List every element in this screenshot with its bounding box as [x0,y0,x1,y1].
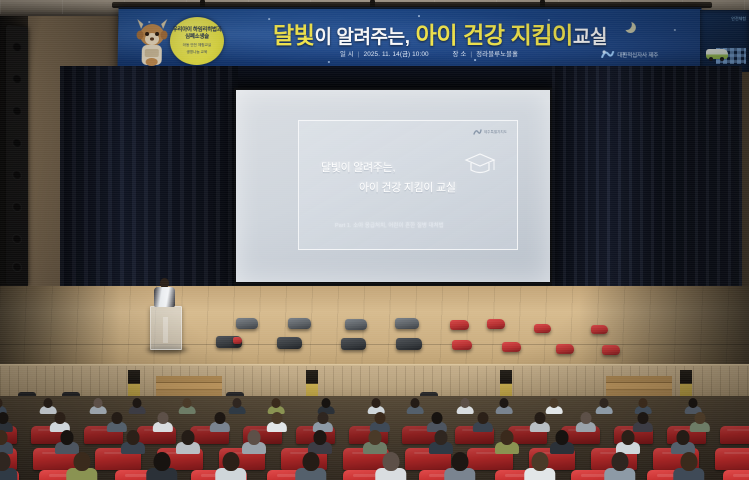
audience-member [426,430,456,454]
cpr-manikin [396,338,422,350]
cpr-kit [502,342,521,352]
audience-member [687,412,712,432]
slide-logo: 제주특별자치도 [473,128,507,136]
audience-head [247,430,260,445]
organization-logo-icon [473,128,482,136]
audience-head [157,412,168,424]
cpr-manikin [341,338,366,350]
cpr-manikin [288,318,311,329]
sponsor-logo: 대한적십자사 제주 [601,49,658,60]
line-array-speaker [6,25,28,287]
slide-logo-text: 제주특별자치도 [484,130,507,135]
audience-member [440,452,479,480]
deer-mascot-icon [130,15,175,69]
audience-member [310,412,335,432]
audience-head [411,398,420,408]
cpr-kit [602,345,620,355]
audience-head [126,430,139,445]
banner-date-value: 2025. 11. 14(금) 10:00 [364,51,429,58]
audience-head [233,398,242,408]
audience-head [317,412,328,424]
banner-title-part-2: 이 알려주는, [314,27,409,48]
banner-title: 달빛이 알려주는, 아이 건강 지킴이교실 [240,16,640,50]
audience-head [368,430,381,445]
audience-head [451,452,468,471]
audience-member [547,430,577,454]
audience-member [62,452,101,480]
audience-head [54,412,65,424]
audience-head [477,412,488,424]
badge-circle: 우리아이 하임리히법과 심폐소생술 아동 안전 체험교실 생명나눔 교육 [170,17,225,65]
event-banner: 우리아이 하임리히법과 심폐소생술 아동 안전 체험교실 생명나눔 교육 달빛이… [117,7,702,71]
audience-head [611,452,628,471]
cpr-kit [591,325,608,334]
presenter-body [154,287,175,307]
audience-member [630,412,655,432]
audience-member [424,412,449,432]
acrylic-podium [150,306,182,350]
audience-member [573,412,598,432]
banner-place-value: 정라블루노블홀 [476,51,518,58]
audience-member [527,412,552,432]
audience-head [94,398,103,408]
audience-head [302,452,319,471]
auditorium-photo: 우리아이 하임리히법과 심폐소생술 아동 안전 체험교실 생명나눔 교육 달빛이… [0,0,749,480]
sponsor-logo-text: 대한적십자사 제주 [617,51,658,59]
cpr-kit [556,344,574,354]
audience-member [173,430,203,454]
audience-head [680,452,697,471]
badge-line-3: 아동 안전 체험교실 [183,43,212,48]
banner-info-line: 일 시|2025. 11. 14(금) 10:00 장 소|정라블루노블홀 [240,49,640,58]
audience-seat [720,426,749,444]
stage-shadow-left [0,286,120,372]
slide-title-line-2: 아이 건강 지킴이 교실 [359,179,456,195]
cpr-manikin [277,337,302,349]
slide-title-line-1: 달빛이 알려주는, [321,159,395,175]
banner-title-part-4: 교실 [573,27,607,48]
audience-head [322,398,331,408]
audience-member [494,398,515,414]
projection-screen: 제주특별자치도 달빛이 알려주는, 아이 건강 지킴이 교실 Part 1. 소… [236,90,550,282]
audience-seating [0,396,749,480]
audience-member [613,430,643,454]
badge-line-4: 생명나눔 교육 [186,50,207,55]
audience-member [239,430,269,454]
audience-head [431,412,442,424]
audience-head [689,398,698,408]
audience-head [372,398,381,408]
audience-member [492,430,522,454]
audience-member [520,452,559,480]
shuttle-bus-icon [706,49,728,59]
audience-head [382,452,399,471]
cpr-kit [534,324,551,333]
audience-member [118,430,148,454]
audience-head [531,452,548,471]
side-panel-caption: 안전체험 [731,16,746,22]
audience-member [669,452,708,480]
audience-head [639,398,648,408]
audience-member [150,412,175,432]
banner-date-label: 일 시 [340,51,354,58]
audience-head [272,398,281,408]
audience-head [222,452,239,471]
audience-member [600,452,639,480]
audience-member [142,452,181,480]
audience-head [555,430,568,445]
audience-member [470,412,495,432]
audience-head [181,430,194,445]
presentation-slide: 제주특별자치도 달빛이 알려주는, 아이 건강 지킴이 교실 Part 1. 소… [298,120,518,250]
audience-head [694,412,705,424]
presenter [152,278,176,310]
cpr-kit [452,340,472,350]
audience-member [264,412,289,432]
audience-member [360,430,390,454]
audience-head [374,412,385,424]
audience-head [313,430,326,445]
cpr-manikin [345,319,367,330]
audience-head [153,452,170,471]
audience-member [177,398,198,414]
audience-member [104,412,129,432]
city-logo-icon [601,49,614,60]
graduation-cap-icon [463,151,497,177]
audience-member [52,430,82,454]
audience-head [434,430,447,445]
banner-place-label: 장 소 [453,51,467,58]
banner-title-part-1: 달빛 [273,22,315,48]
audience-member [367,412,392,432]
audience-head [73,452,90,471]
audience-head [461,398,470,408]
audience-member [405,398,426,414]
banner-title-part-3: 아이 건강 지킴이 [416,22,573,48]
audience-member [305,430,335,454]
cpr-kit [233,337,242,344]
audience-member [0,412,15,432]
audience-head [44,398,53,408]
audience-member [211,452,250,480]
audience-head [214,412,225,424]
side-led-panel: 안전체험 [700,10,749,72]
cpr-kit [487,319,505,329]
audience-member [207,412,232,432]
audience-head [133,398,142,408]
cpr-manikin [395,318,419,329]
audience-head [60,430,73,445]
audience-member [0,430,16,454]
slide-subtitle: Part 1. 소아 응급처치, 어린이 흔한 질병 대처법 [335,221,444,229]
audience-member [291,452,330,480]
audience-member [47,412,72,432]
audience-head [500,398,509,408]
audience-head [621,430,634,445]
audience-head [580,412,591,424]
audience-head [534,412,545,424]
audience-seat [715,448,749,470]
audience-head [600,398,609,408]
audience-member [0,452,21,480]
audience-seat [723,470,749,480]
audience-head [271,412,282,424]
audience-head [500,430,513,445]
cpr-manikin [236,318,258,329]
audience-head [183,398,192,408]
banner-separator-2: | [470,51,472,58]
audience-member [127,398,148,414]
audience-head [676,430,689,445]
audience-member [371,452,410,480]
audience-head [637,412,648,424]
audience-head [111,412,122,424]
banner-separator-1: | [358,51,360,58]
audience-head [550,398,559,408]
badge-line-2: 심폐소생술 [185,34,209,41]
cpr-kit [450,320,469,330]
audience-member [668,430,698,454]
